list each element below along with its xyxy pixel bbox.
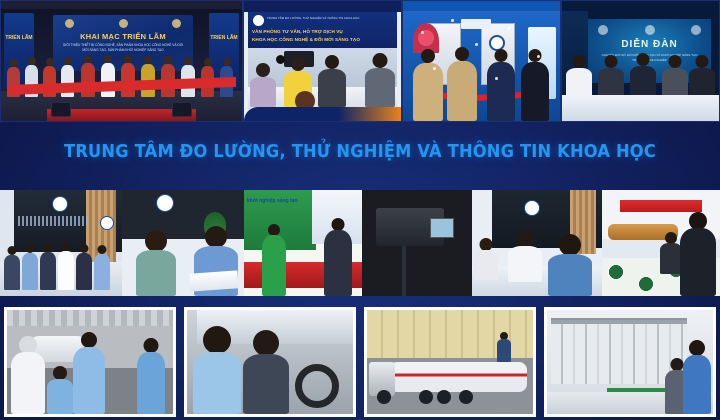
person-head: [256, 63, 270, 77]
person-interviewer: [324, 218, 352, 296]
person-body: [58, 251, 74, 290]
screen-logo-strip: [65, 19, 181, 28]
photo-document-consultation-office: [472, 190, 602, 296]
confetti-dot: [495, 77, 498, 80]
organization-seal-icon: [100, 216, 114, 230]
promotion-sign: [620, 200, 702, 212]
person-head: [517, 230, 534, 247]
person-head: [124, 55, 132, 63]
person-head: [495, 49, 508, 62]
person-body: [660, 243, 682, 274]
photo-fuel-tanker-volume-verification: [364, 307, 536, 417]
person-head: [44, 243, 53, 252]
person-head: [164, 56, 172, 64]
person-head: [104, 55, 112, 63]
truck-wheel: [419, 390, 433, 404]
confetti-dot: [507, 27, 510, 30]
person-body: [47, 379, 73, 414]
tv-camera-icon: [376, 208, 444, 246]
person-head: [373, 53, 388, 68]
person-body: [137, 352, 165, 414]
truck-wheel: [377, 390, 391, 404]
person-head: [64, 57, 72, 65]
person-head: [573, 55, 586, 68]
person-head: [421, 49, 435, 63]
person-body: [262, 235, 286, 296]
confetti-dot: [421, 31, 424, 34]
page-title: TRUNG TÂM ĐO LƯỜNG, THỬ NGHIỆM VÀ THÔNG …: [25, 142, 695, 162]
person: [161, 56, 175, 97]
person-head: [46, 58, 54, 66]
person-presenter: [262, 224, 286, 296]
person: [94, 245, 110, 290]
person-on-tanker: [497, 332, 511, 362]
confetti-dot: [475, 43, 478, 46]
person: [521, 49, 549, 121]
person-body: [22, 253, 38, 290]
logo-mark: [119, 19, 128, 28]
person: [598, 55, 624, 99]
person: [630, 53, 656, 99]
person-body: [193, 352, 241, 414]
photo-content: [367, 310, 533, 414]
screen-subtitle: GIỚI THIỆU THIẾT BỊ CÔNG NGHỆ, SẢN PHẨM …: [61, 43, 185, 53]
organization-seal-icon: [524, 200, 540, 216]
person: [689, 55, 715, 99]
person-body: [324, 230, 352, 296]
photo-content: [187, 310, 353, 414]
organization-seal-icon: [156, 194, 174, 212]
person-head: [10, 59, 18, 67]
confetti-dot: [451, 19, 454, 22]
camera-tripod: [402, 246, 406, 296]
person-body: [487, 62, 515, 121]
banner-line-2: KHOA HỌC CÔNG NGHỆ & ĐỔI MỚI SÁNG TẠO: [252, 37, 393, 42]
photo-content: [547, 310, 713, 414]
booth-board-text: khởi nghiệp sáng tạo: [247, 198, 313, 204]
logo-mark: [172, 19, 181, 28]
truck-wheel: [459, 390, 473, 404]
person-body: [447, 61, 477, 121]
bottom-photo-row: [0, 303, 720, 420]
person-technician-masked: [243, 330, 289, 414]
person: [40, 243, 56, 290]
person-head: [184, 57, 192, 65]
person-supervisor: [137, 338, 165, 414]
office-wall-banner: TRUNG TÂM ĐO LƯỜNG, THỬ NGHIỆM VÀ THÔNG …: [248, 12, 397, 48]
photo-exhibition-booth-interview: khởi nghiệp sáng tạo: [244, 190, 362, 296]
person-head: [144, 56, 152, 64]
person: [447, 47, 477, 121]
person-head: [28, 57, 36, 65]
person-seated: [47, 366, 73, 414]
person-head: [637, 53, 650, 66]
person-body: [76, 253, 92, 290]
tanker-barrel: [389, 362, 527, 392]
person-head: [205, 226, 227, 248]
person-technician: [11, 336, 45, 414]
person-engineer: [683, 340, 711, 414]
person-head: [253, 330, 279, 356]
photo-content: [7, 310, 173, 414]
photo-tv-camera-crew: [362, 190, 472, 296]
photo-in-vehicle-technician-check: [184, 307, 356, 417]
person-body: [521, 62, 549, 121]
screen-headline: DIỄN ĐÀN: [588, 39, 711, 50]
banner-line-1: VĂN PHÒNG TƯ VẤN, HỖ TRỢ DỊCH VỤ: [252, 29, 393, 34]
person-head: [53, 366, 67, 380]
person-body: [101, 63, 115, 97]
person-head: [26, 244, 35, 253]
person-head: [669, 55, 682, 68]
person: [318, 55, 346, 107]
confetti-dot: [537, 55, 540, 58]
center-logo-icon: [253, 15, 264, 26]
confetti-dot: [433, 67, 436, 70]
photo-service-desk-consultation: [122, 190, 244, 296]
photo-supermarket-market-inspection: [602, 190, 720, 296]
ceiling-band: [244, 1, 401, 12]
person-body: [73, 347, 105, 414]
photo-office-group-photo: [0, 190, 122, 296]
person: [566, 55, 592, 99]
person: [508, 230, 542, 282]
garage-roof: [7, 310, 173, 326]
person-head: [80, 244, 89, 253]
person-foreground: [548, 234, 592, 296]
banner-bottom-curve: [244, 107, 401, 121]
person: [365, 53, 395, 107]
top-photo-row: TRIỂN LÃM TRIỂN LÃM KHAI MẠC TRIỂN LÃM G…: [0, 0, 720, 122]
person-driver: [193, 326, 241, 414]
wall-name-text: [18, 216, 88, 226]
side-banner-left-text: TRIỂN LÃM: [4, 35, 34, 41]
person-head: [8, 246, 17, 255]
person-staff: [136, 230, 176, 296]
screen-headline: KHAI MẠC TRIỂN LÃM: [53, 32, 193, 41]
person-head: [145, 230, 167, 252]
person-body: [497, 339, 511, 362]
person-inspector: [680, 212, 716, 296]
person-head: [144, 338, 159, 353]
person-head: [203, 326, 231, 354]
documents: [189, 270, 238, 291]
person-head: [204, 58, 212, 66]
side-banner-right-text: TRIỂN LÃM: [209, 35, 239, 41]
person-head: [455, 47, 469, 61]
person-body: [250, 77, 276, 107]
middle-photo-row: khởi nghiệp sáng tạo: [0, 190, 720, 296]
person-head: [559, 234, 581, 256]
person-body: [136, 250, 176, 296]
person: [76, 244, 92, 290]
person-body: [680, 228, 716, 296]
person: [22, 244, 38, 290]
person: [487, 49, 515, 121]
organization-seal-icon: [52, 196, 68, 212]
logo-mark: [691, 25, 701, 35]
panel-table: [562, 95, 719, 121]
person-body: [94, 254, 110, 290]
person-inspector: [73, 332, 105, 414]
person-body: [243, 354, 289, 414]
person-body: [548, 254, 592, 296]
person-head: [605, 55, 618, 68]
photo-ribbon-cutting-inauguration: [402, 0, 561, 122]
poster-canvas: TRIỂN LÃM TRIỂN LÃM KHAI MẠC TRIỂN LÃM G…: [0, 0, 720, 420]
door-sign: [461, 19, 491, 29]
person-head: [81, 332, 97, 348]
person-head: [689, 340, 705, 356]
person-body: [365, 68, 395, 107]
person-head: [62, 242, 71, 251]
person-head: [325, 55, 339, 69]
stage-speaker: [51, 102, 71, 117]
person: [250, 63, 276, 107]
person: [662, 55, 688, 99]
person-head: [223, 58, 231, 66]
logo-mark: [65, 19, 74, 28]
person-body: [11, 352, 45, 414]
photo-consulting-office: TRUNG TÂM ĐO LƯỜNG, THỬ NGHIỆM VÀ THÔNG …: [243, 0, 402, 122]
photo-meter-calibration-laboratory: [544, 307, 716, 417]
person: [474, 238, 498, 280]
person-head: [84, 55, 92, 63]
person-body: [508, 246, 542, 282]
logo-mark: [645, 25, 655, 35]
person-head: [291, 57, 305, 71]
person-body: [683, 355, 711, 414]
photo-vehicle-emission-testing: [4, 307, 176, 417]
truck-wheel: [437, 390, 451, 404]
person-body: [413, 63, 443, 121]
person-body: [474, 250, 498, 280]
photo-science-forum-panel: DIỄN ĐÀN CHUYỂN ĐỔI SỐ, ĐỔI MỚI SÁNG TẠO…: [561, 0, 720, 122]
person: [141, 56, 155, 97]
person-body: [40, 252, 56, 290]
person: [4, 246, 20, 290]
steering-wheel: [295, 364, 339, 408]
person-vendor: [660, 232, 682, 274]
person-head: [98, 245, 107, 254]
person-body: [4, 255, 20, 290]
stage-speaker: [172, 102, 192, 117]
person-body: [318, 69, 346, 107]
logo-mark: [598, 25, 608, 35]
person: [181, 57, 195, 97]
person-head: [696, 55, 709, 68]
screen-logo-strip: [598, 25, 701, 35]
person: [58, 242, 74, 290]
banner-org-line: TRUNG TÂM ĐO LƯỜNG, THỬ NGHIỆM VÀ THÔNG …: [267, 17, 393, 20]
photo-exhibition-opening-ceremony: TRIỂN LÃM TRIỂN LÃM KHAI MẠC TRIỂN LÃM G…: [0, 0, 243, 122]
title-band: TRUNG TÂM ĐO LƯỜNG, THỬ NGHIỆM VÀ THÔNG …: [0, 122, 720, 190]
person: [413, 49, 443, 121]
